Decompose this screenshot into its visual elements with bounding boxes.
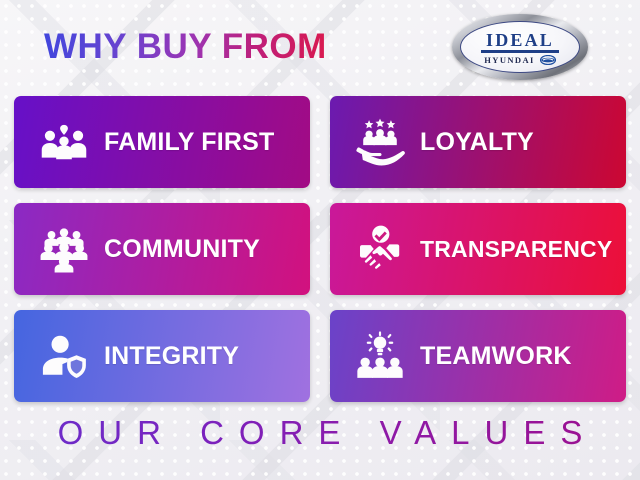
dealer-logo: IDEAL HYUNDAI (452, 14, 588, 80)
value-card-family-first[interactable]: FAMILY FIRST (14, 96, 310, 188)
logo-underline-bar (481, 50, 559, 53)
values-card-grid: FAMILY FIRST LOYALTY (14, 96, 626, 402)
value-card-label: COMMUNITY (104, 235, 260, 264)
people-group-icon (38, 223, 90, 275)
value-card-loyalty[interactable]: LOYALTY (330, 96, 626, 188)
person-shield-icon (38, 330, 90, 382)
logo-sub-text: HYUNDAI (484, 55, 534, 65)
logo-inner-oval: IDEAL HYUNDAI (460, 21, 580, 73)
logo-brand-text: IDEAL (486, 31, 554, 49)
value-card-community[interactable]: COMMUNITY (14, 203, 310, 295)
poster-canvas: WHY BUY FROM IDEAL HYUNDAI (0, 0, 640, 480)
hyundai-h-swoosh-icon (540, 55, 556, 65)
footer-tagline: OUR CORE VALUES (43, 414, 598, 451)
team-lightbulb-icon (354, 330, 406, 382)
value-card-integrity[interactable]: INTEGRITY (14, 310, 310, 402)
logo-sub-row: HYUNDAI (484, 55, 555, 65)
value-card-teamwork[interactable]: TEAMWORK (330, 310, 626, 402)
footer: OUR CORE VALUES (0, 414, 640, 452)
hand-holding-people-stars-icon (354, 116, 406, 168)
value-card-label: TEAMWORK (420, 342, 572, 371)
value-card-label: LOYALTY (420, 128, 534, 157)
value-card-label: TRANSPARENCY (420, 236, 612, 263)
handshake-check-icon (354, 223, 406, 275)
value-card-transparency[interactable]: TRANSPARENCY (330, 203, 626, 295)
family-icon (38, 116, 90, 168)
page-title: WHY BUY FROM (44, 27, 327, 67)
value-card-label: INTEGRITY (104, 342, 239, 371)
value-card-label: FAMILY FIRST (104, 128, 274, 157)
header: WHY BUY FROM IDEAL HYUNDAI (0, 0, 640, 94)
